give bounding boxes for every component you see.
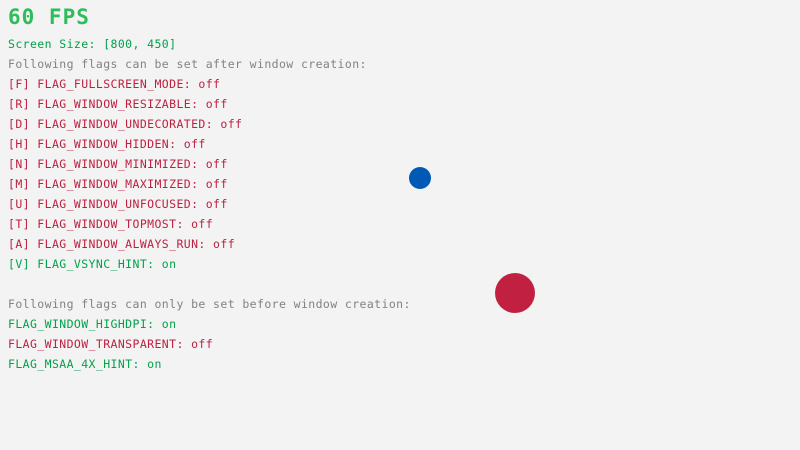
flag-row-window-hidden[interactable]: [H] FLAG_WINDOW_HIDDEN: off — [8, 138, 206, 150]
flag-row-window-resizable[interactable]: [R] FLAG_WINDOW_RESIZABLE: off — [8, 98, 228, 110]
flag-row-window-topmost[interactable]: [T] FLAG_WINDOW_TOPMOST: off — [8, 218, 213, 230]
flag-row-vsync-hint[interactable]: [V] FLAG_VSYNC_HINT: on — [8, 258, 176, 270]
creation-flags-heading: Following flags can only be set before w… — [8, 298, 411, 310]
flag-row-window-minimized[interactable]: [N] FLAG_WINDOW_MINIMIZED: off — [8, 158, 228, 170]
flag-row-window-undecorated[interactable]: [D] FLAG_WINDOW_UNDECORATED: off — [8, 118, 242, 130]
screen-size-label: Screen Size: [800, 450] — [8, 38, 176, 50]
flag-row-msaa-4x-hint: FLAG_MSAA_4X_HINT: on — [8, 358, 162, 370]
flag-row-window-unfocused[interactable]: [U] FLAG_WINDOW_UNFOCUSED: off — [8, 198, 228, 210]
flag-row-fullscreen-mode[interactable]: [F] FLAG_FULLSCREEN_MODE: off — [8, 78, 220, 90]
red-ball-circle — [495, 273, 535, 313]
blue-ball-circle — [409, 167, 431, 189]
flag-row-window-maximized[interactable]: [M] FLAG_WINDOW_MAXIMIZED: off — [8, 178, 228, 190]
fps-counter: 60 FPS — [8, 6, 90, 28]
raylib-window-canvas: 60 FPS Screen Size: [800, 450] Following… — [0, 0, 800, 450]
runtime-flags-heading: Following flags can be set after window … — [8, 58, 367, 70]
flag-row-window-always-run[interactable]: [A] FLAG_WINDOW_ALWAYS_RUN: off — [8, 238, 235, 250]
flag-row-window-highdpi: FLAG_WINDOW_HIGHDPI: on — [8, 318, 176, 330]
flag-row-window-transparent: FLAG_WINDOW_TRANSPARENT: off — [8, 338, 213, 350]
